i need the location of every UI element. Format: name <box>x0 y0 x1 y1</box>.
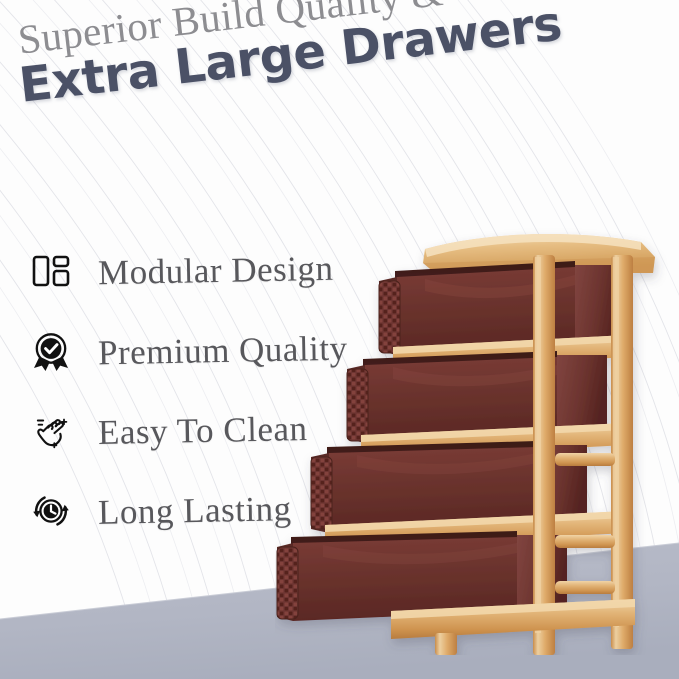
modular-layout-icon <box>28 248 74 294</box>
product-feature-poster: Superior Build Quality & Extra Large Dra… <box>0 0 679 679</box>
product-image-storage-drawer-unit <box>275 215 679 655</box>
quality-badge-icon <box>28 328 74 374</box>
clock-refresh-icon <box>28 488 74 534</box>
wiping-hand-icon <box>28 408 74 454</box>
headline: Superior Build Quality & Extra Large Dra… <box>0 0 517 116</box>
feature-label-long-lasting: Long Lasting <box>98 489 292 533</box>
